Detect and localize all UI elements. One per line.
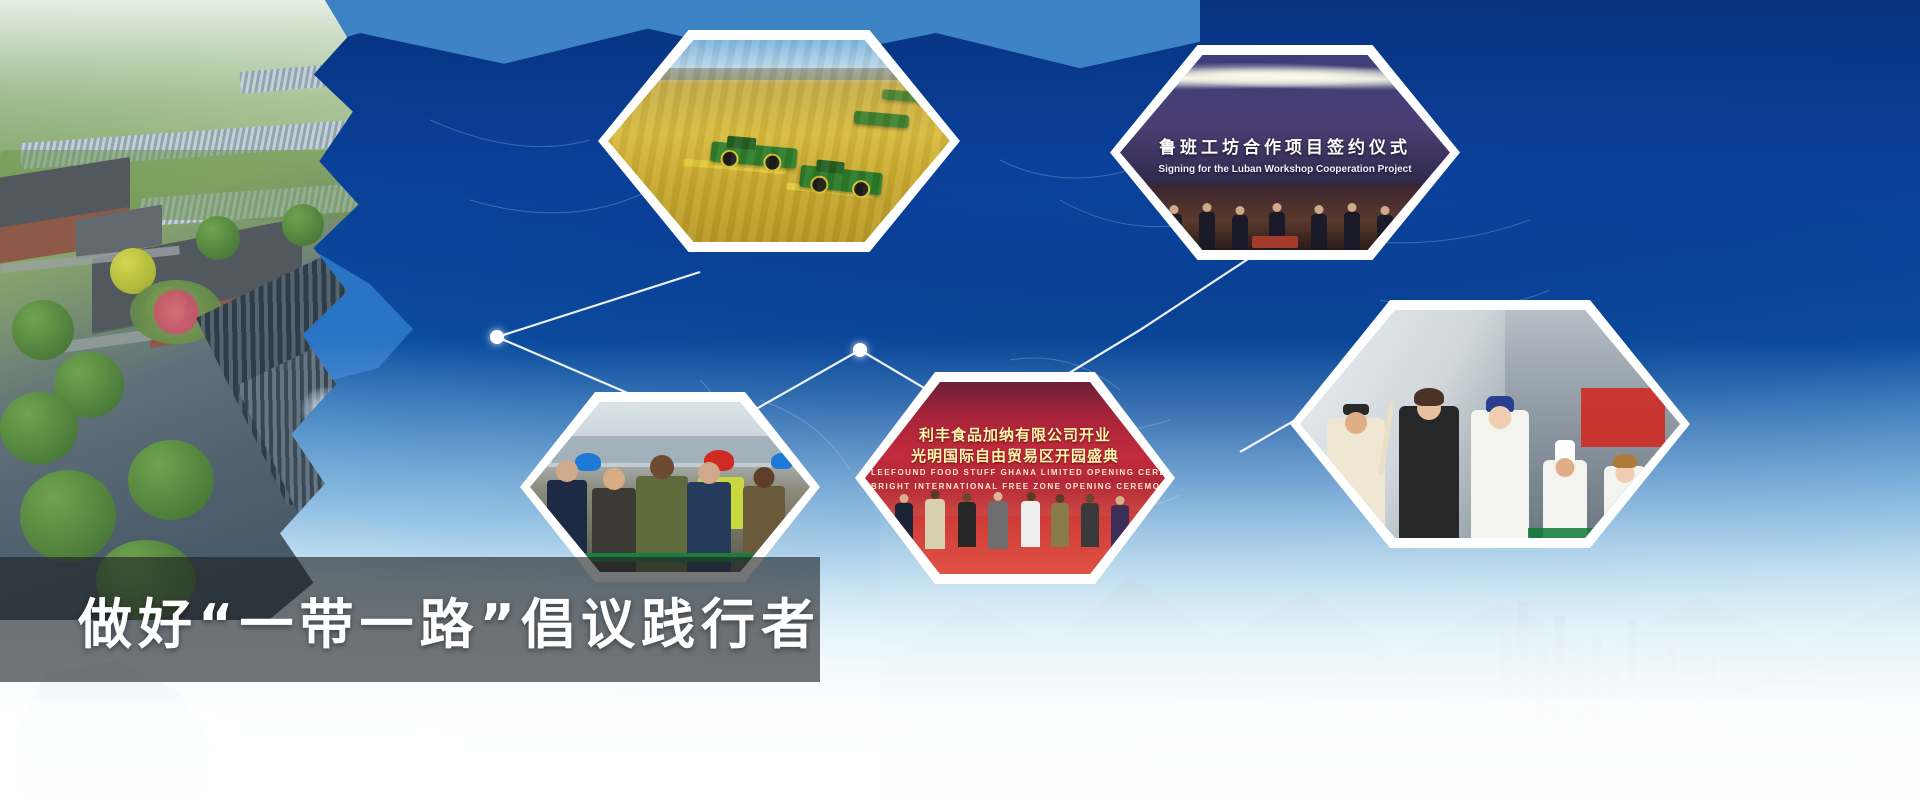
attendee bbox=[1311, 214, 1327, 250]
chef-face bbox=[1345, 412, 1367, 434]
chef-secondary bbox=[1543, 460, 1587, 538]
signing-table bbox=[1252, 236, 1298, 248]
visitor bbox=[1399, 406, 1459, 538]
china-flag-backdrop bbox=[1581, 388, 1665, 447]
hard-hat-blue bbox=[575, 453, 601, 471]
photo-hex-construction-inner bbox=[530, 402, 810, 572]
photo-hex-luban-inner: 鲁班工坊合作项目签约仪式 Signing for the Luban Works… bbox=[1120, 55, 1450, 250]
dignitary bbox=[958, 502, 976, 547]
page-title: 做好“一带一路”倡议践行者 bbox=[78, 580, 821, 659]
tree bbox=[128, 440, 214, 520]
ghana-banner-cn-line2: 光明国际自由贸易区开园盛典 bbox=[877, 445, 1153, 466]
hair bbox=[1613, 454, 1637, 468]
hair bbox=[1414, 388, 1444, 406]
hard-hat-blue bbox=[771, 453, 793, 469]
photo-hex-agriculture-inner bbox=[608, 40, 950, 242]
photo-hex-ghana-inner: 利丰食品加纳有限公司开业 光明国际自由贸易区开园盛典 LEEFOUND FOOD… bbox=[865, 382, 1165, 574]
network-node-2 bbox=[853, 343, 867, 357]
tree bbox=[20, 470, 116, 562]
dignitary bbox=[925, 499, 945, 549]
title-overlay-band: 做好“一带一路”倡议践行者 bbox=[0, 557, 820, 682]
dignitary bbox=[1111, 505, 1129, 547]
ghana-banner-en-line2: BRIGHT INTERNATIONAL FREE ZONE OPENING C… bbox=[871, 482, 1159, 491]
dignitary bbox=[988, 501, 1008, 549]
tree bbox=[196, 216, 240, 260]
luban-banner-chinese: 鲁班工坊合作项目签约仪式 bbox=[1130, 133, 1440, 158]
dignitary bbox=[1081, 503, 1099, 547]
luban-banner-english: Signing for the Luban Workshop Cooperati… bbox=[1130, 164, 1440, 175]
network-node-1 bbox=[490, 330, 504, 344]
photo-hex-culinary-inner bbox=[1300, 310, 1680, 538]
tree bbox=[12, 300, 74, 360]
student-face bbox=[1489, 406, 1512, 429]
chef-student bbox=[1471, 410, 1529, 538]
attendee bbox=[1344, 212, 1360, 250]
attendee bbox=[1232, 215, 1248, 250]
dignitary bbox=[1021, 501, 1040, 547]
crop-rows-texture bbox=[608, 40, 950, 242]
tree bbox=[282, 204, 324, 246]
ghana-banner-cn-line1: 利丰食品加纳有限公司开业 bbox=[877, 424, 1153, 445]
ghana-banner-en-line1: LEEFOUND FOOD STUFF GHANA LIMITED OPENIN… bbox=[871, 468, 1159, 477]
chef-face bbox=[1556, 458, 1575, 477]
belt-and-road-banner: 鲁班工坊合作项目签约仪式 Signing for the Luban Works… bbox=[0, 0, 1920, 811]
attendee bbox=[1199, 212, 1215, 250]
tree bbox=[0, 392, 78, 464]
dignitary bbox=[1051, 503, 1069, 547]
